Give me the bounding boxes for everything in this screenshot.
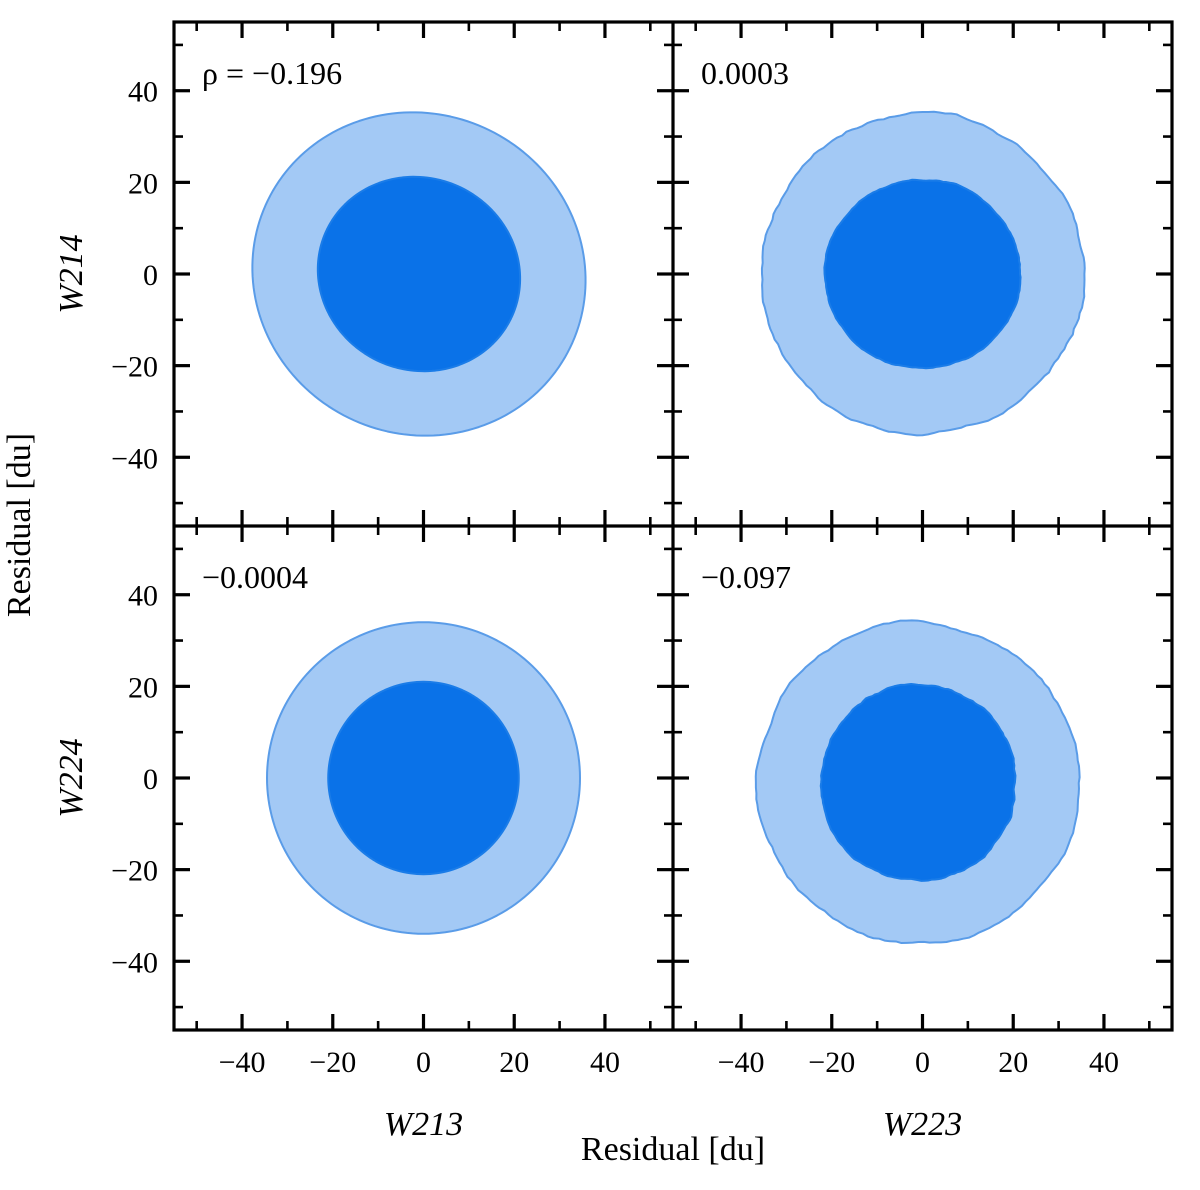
contour-1sigma	[824, 180, 1020, 368]
x-tick-label: 0	[915, 1046, 930, 1079]
x-tick-label: 20	[998, 1046, 1028, 1079]
contour-grid-figure: ρ = −0.1960.0003−0.0004−0.097−40−40−20−2…	[0, 0, 1200, 1190]
panel-annotation-W214-W213: ρ = −0.196	[202, 55, 342, 91]
y-tick-label: −20	[111, 351, 158, 384]
contour-1sigma	[821, 684, 1016, 881]
x-tick-label: 40	[590, 1046, 620, 1079]
figure-root: ρ = −0.1960.0003−0.0004−0.097−40−40−20−2…	[0, 0, 1200, 1190]
x-tick-label: 20	[499, 1046, 529, 1079]
y-tick-label: 0	[143, 763, 158, 796]
x-tick-label: 0	[416, 1046, 431, 1079]
y-tick-label: −20	[111, 855, 158, 888]
panel-annotation-W224-W213: −0.0004	[202, 559, 308, 595]
y-tick-label: 40	[128, 580, 158, 613]
x-tick-label: −40	[718, 1046, 765, 1079]
x-tick-label: −20	[309, 1046, 356, 1079]
x-tick-label: 40	[1089, 1046, 1119, 1079]
x-tick-label: −20	[808, 1046, 855, 1079]
outer-x-axis-label: Residual [du]	[581, 1131, 765, 1168]
y-tick-label: 20	[128, 671, 158, 704]
contour-1sigma	[328, 682, 519, 874]
y-tick-label: 40	[128, 76, 158, 109]
y-tick-label: −40	[111, 946, 158, 979]
x-tick-label: −40	[219, 1046, 266, 1079]
panel-annotation-W224-W223: −0.097	[701, 559, 791, 595]
panel-x-axis-name-W213: W213	[384, 1106, 463, 1143]
panel-y-axis-name-W224: W224	[53, 738, 90, 817]
y-tick-label: 20	[128, 167, 158, 200]
y-tick-label: 0	[143, 259, 158, 292]
panel-W224-vs-W213	[267, 622, 580, 934]
panel-annotation-W214-W223: 0.0003	[701, 55, 789, 91]
panel-y-axis-name-W214: W214	[53, 234, 90, 313]
y-tick-label: −40	[111, 442, 158, 475]
outer-y-axis-label: Residual [du]	[1, 433, 38, 617]
panel-x-axis-name-W223: W223	[883, 1106, 962, 1143]
panel-W224-vs-W223	[756, 620, 1080, 943]
